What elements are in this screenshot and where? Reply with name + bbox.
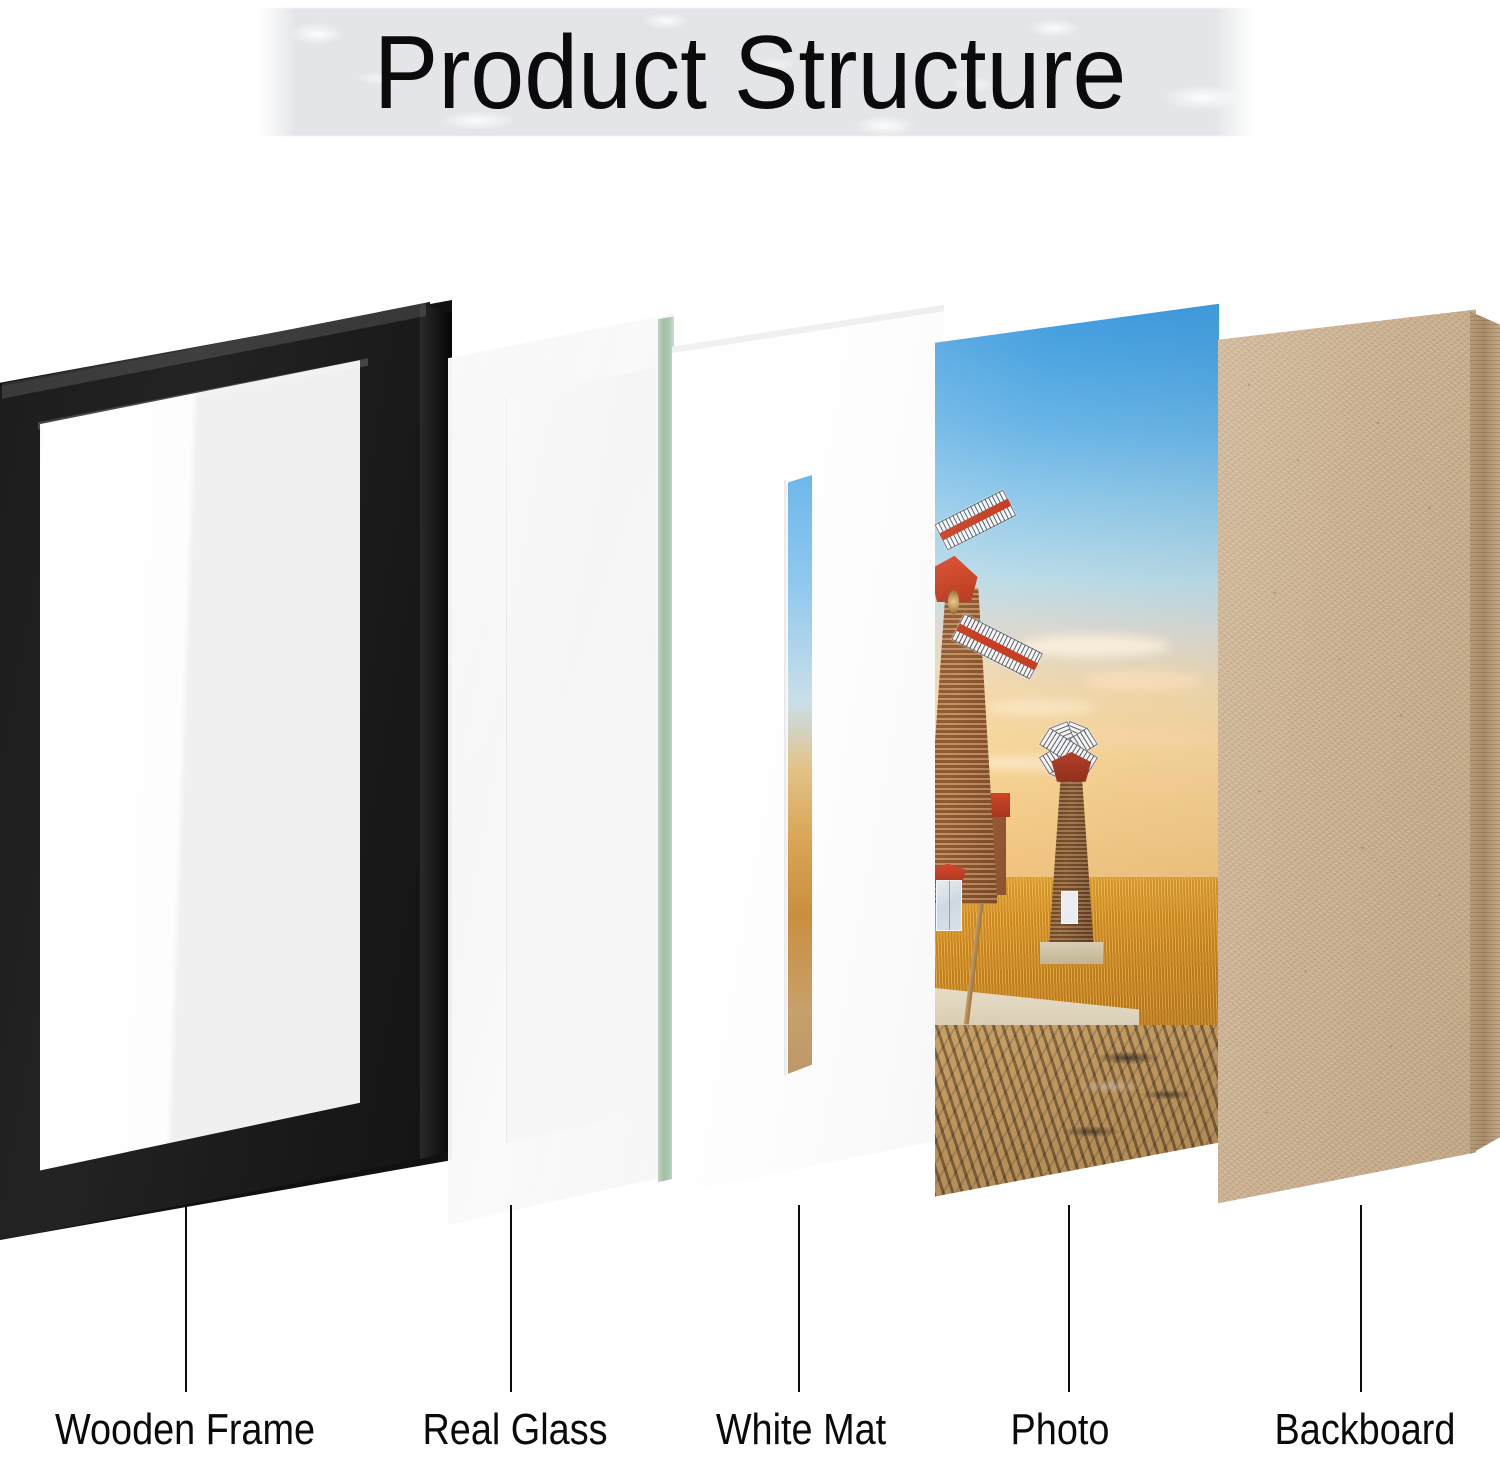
layer-labels: Wooden Frame Real Glass White Mat Photo … [0, 1405, 1500, 1467]
leader-line-photo [1068, 1205, 1070, 1392]
label-white-mat: White Mat [688, 1405, 913, 1455]
label-backboard: Backboard [1249, 1405, 1481, 1455]
leader-line-white-mat [798, 1205, 800, 1392]
label-wooden-frame: Wooden Frame [30, 1405, 340, 1455]
leader-line-wooden-frame [185, 1205, 187, 1392]
leader-lines [0, 0, 1500, 1473]
leader-line-real-glass [510, 1205, 512, 1392]
label-real-glass: Real Glass [399, 1405, 631, 1455]
leader-line-backboard [1360, 1205, 1362, 1392]
label-photo: Photo [974, 1405, 1146, 1455]
